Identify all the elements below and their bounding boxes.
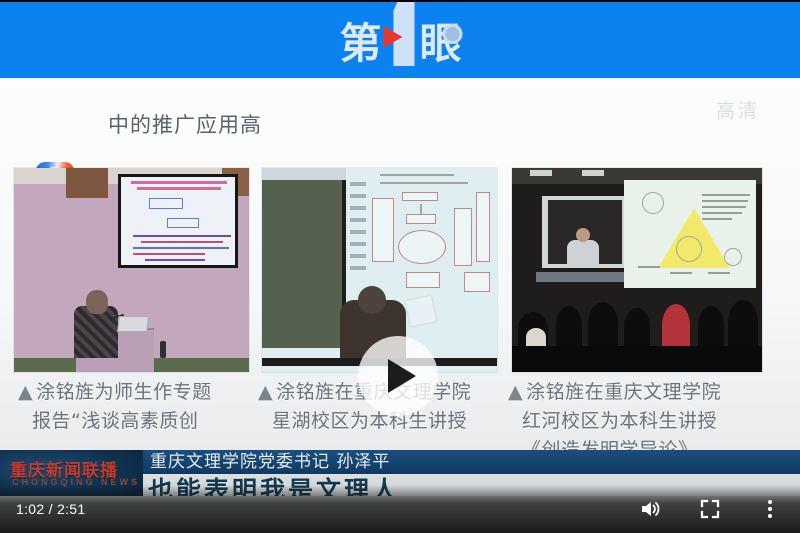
play-triangle-icon (384, 26, 403, 48)
eye-dot-icon (443, 24, 463, 44)
brand-logo: 第 眼 (339, 14, 460, 66)
play-triangle-icon (388, 359, 416, 393)
more-vertical-icon[interactable] (758, 497, 782, 521)
control-buttons (638, 497, 782, 521)
time-display: 1:02 / 2:51 (16, 501, 85, 517)
video-player[interactable]: 第 眼 中的推广应用高 级研修班”学员授课 高清 (0, 0, 800, 533)
caption-1-line1: 涂铭旌为师生作专题 (36, 381, 212, 403)
hd-badge: 高清 (716, 96, 760, 123)
play-circle-icon[interactable] (358, 336, 438, 416)
caption-3-line1: 涂铭旌在重庆文理学院 (526, 381, 721, 403)
photo-panel-3 (512, 168, 762, 372)
brand-logo-char-first: 第 (339, 22, 380, 66)
video-frame: 中的推广应用高 级研修班”学员授课 高清 (0, 78, 800, 478)
video-surface[interactable]: 中的推广应用高 级研修班”学员授课 高清 (0, 78, 800, 533)
caption-marker-icon: ▲ (18, 381, 33, 403)
brand-logo-digit-one (383, 2, 419, 66)
player-control-bar[interactable]: 1:02 / 2:51 (0, 485, 800, 533)
caption-marker-icon: ▲ (258, 381, 273, 403)
brand-banner: 第 眼 (0, 2, 800, 78)
news-speaker-title: 重庆文理学院党委书记 孙泽平 (150, 451, 390, 474)
caption-3-line2: 红河校区为本科生讲授 (508, 407, 788, 436)
volume-icon[interactable] (638, 497, 662, 521)
slide-headline-line1: 中的推广应用高 (36, 110, 756, 140)
fullscreen-icon[interactable] (698, 497, 722, 521)
caption-marker-icon: ▲ (508, 381, 523, 403)
caption-1-line2: 报告“浅谈高素质创 (18, 407, 254, 436)
caption-panel-1: ▲涂铭旌为师生作专题 报告“浅谈高素质创 (18, 378, 254, 436)
photo-panel-1 (14, 168, 249, 372)
